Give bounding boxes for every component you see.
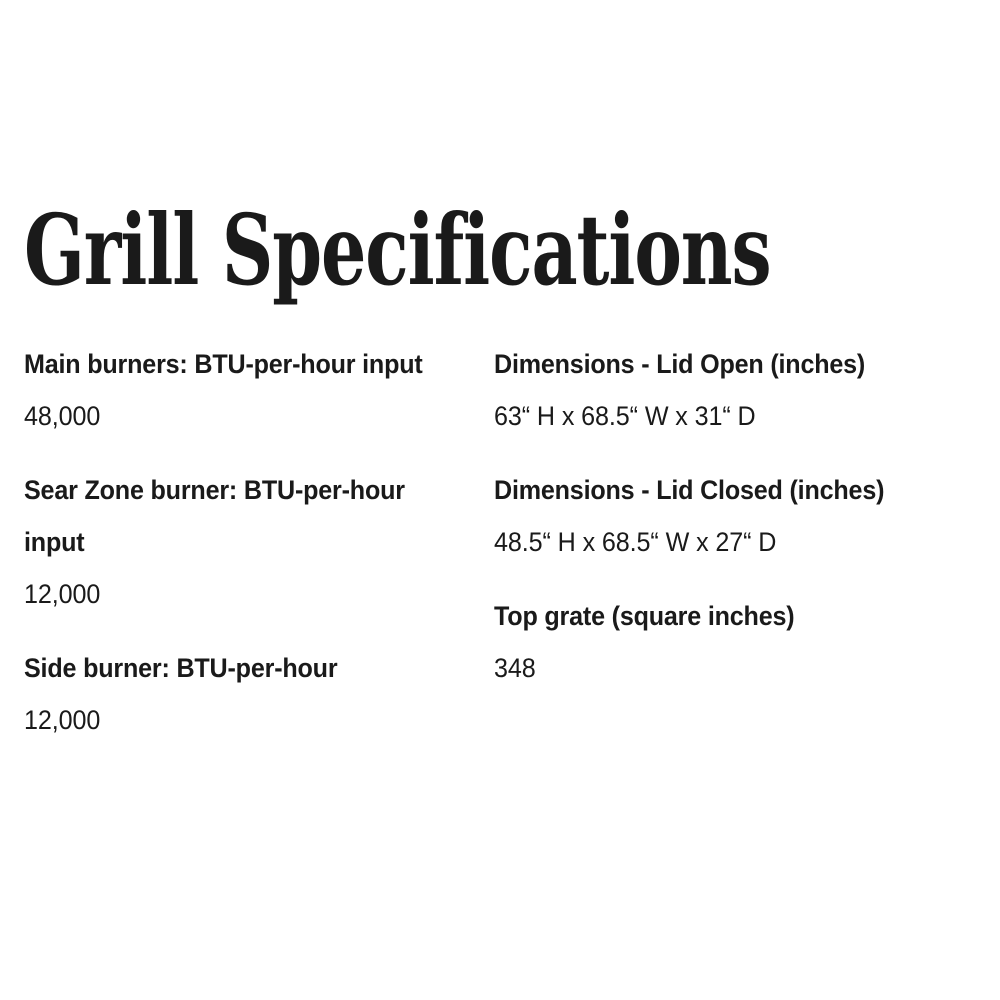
- spec-label: Dimensions - Lid Open (inches): [494, 338, 962, 390]
- spec-value: 48.5“ H x 68.5“ W x 27“ D: [494, 516, 962, 568]
- spec-item-main-burners: Main burners: BTU-per-hour input 48,000: [24, 338, 460, 442]
- specifications-column-right: Dimensions - Lid Open (inches) 63“ H x 6…: [494, 338, 962, 694]
- specifications-column-left: Main burners: BTU-per-hour input 48,000 …: [24, 338, 494, 746]
- specifications-columns: Main burners: BTU-per-hour input 48,000 …: [24, 338, 996, 746]
- spec-label: Side burner: BTU-per-hour: [24, 642, 460, 694]
- spec-value: 48,000: [24, 390, 460, 442]
- spec-value: 348: [494, 642, 962, 694]
- spec-item-sear-zone-burner: Sear Zone burner: BTU-per-hour input 12,…: [24, 464, 460, 620]
- spec-label: Main burners: BTU-per-hour input: [24, 338, 460, 390]
- spec-item-dimensions-lid-open: Dimensions - Lid Open (inches) 63“ H x 6…: [494, 338, 962, 442]
- spec-label: Dimensions - Lid Closed (inches): [494, 464, 962, 516]
- spec-label: Top grate (square inches): [494, 590, 962, 642]
- page-title: Grill Specifications: [24, 196, 771, 304]
- spec-value: 12,000: [24, 694, 460, 746]
- spec-item-dimensions-lid-closed: Dimensions - Lid Closed (inches) 48.5“ H…: [494, 464, 962, 568]
- spec-item-side-burner: Side burner: BTU-per-hour 12,000: [24, 642, 460, 746]
- spec-label: Sear Zone burner: BTU-per-hour input: [24, 464, 460, 568]
- spec-item-top-grate: Top grate (square inches) 348: [494, 590, 962, 694]
- specifications-page: Grill Specifications Main burners: BTU-p…: [0, 0, 1000, 1000]
- spec-value: 12,000: [24, 568, 460, 620]
- spec-value: 63“ H x 68.5“ W x 31“ D: [494, 390, 962, 442]
